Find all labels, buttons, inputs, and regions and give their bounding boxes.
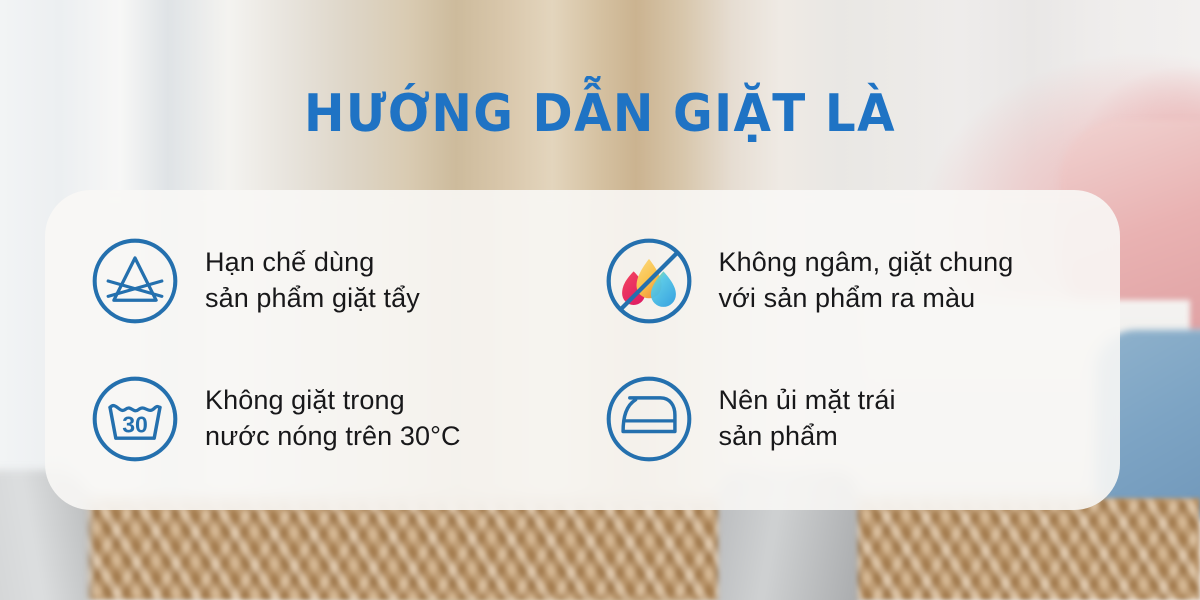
tip-item: Nên ủi mặt trái sản phẩm xyxy=(587,350,1095,488)
no-bleach-triangle-icon xyxy=(87,233,183,329)
tip-label: Không giặt trong nước nóng trên 30°C xyxy=(205,383,461,454)
page-title: HƯỚNG DẪN GIẶT LÀ xyxy=(42,88,1158,140)
laundry-care-poster: HƯỚNG DẪN GIẶT LÀ Hạn chế dùng sản phẩm … xyxy=(0,0,1200,600)
tip-label: Không ngâm, giặt chung với sản phẩm ra m… xyxy=(719,245,1014,316)
tip-item: 30 Không giặt trong nước nóng trên 30°C xyxy=(73,350,581,488)
wash-tub-30-icon: 30 xyxy=(87,371,183,467)
iron-icon xyxy=(601,371,697,467)
wash-temperature-label: 30 xyxy=(122,411,148,437)
background-wicker-basket xyxy=(0,498,1200,600)
tip-item: Hạn chế dùng sản phẩm giặt tẩy xyxy=(73,212,581,350)
care-instructions-card: Hạn chế dùng sản phẩm giặt tẩy xyxy=(45,190,1120,510)
tip-label: Hạn chế dùng sản phẩm giặt tẩy xyxy=(205,245,420,316)
no-color-bleed-droplets-icon xyxy=(601,233,697,329)
tip-item: Không ngâm, giặt chung với sản phẩm ra m… xyxy=(587,212,1095,350)
tip-label: Nên ủi mặt trái sản phẩm xyxy=(719,383,896,454)
